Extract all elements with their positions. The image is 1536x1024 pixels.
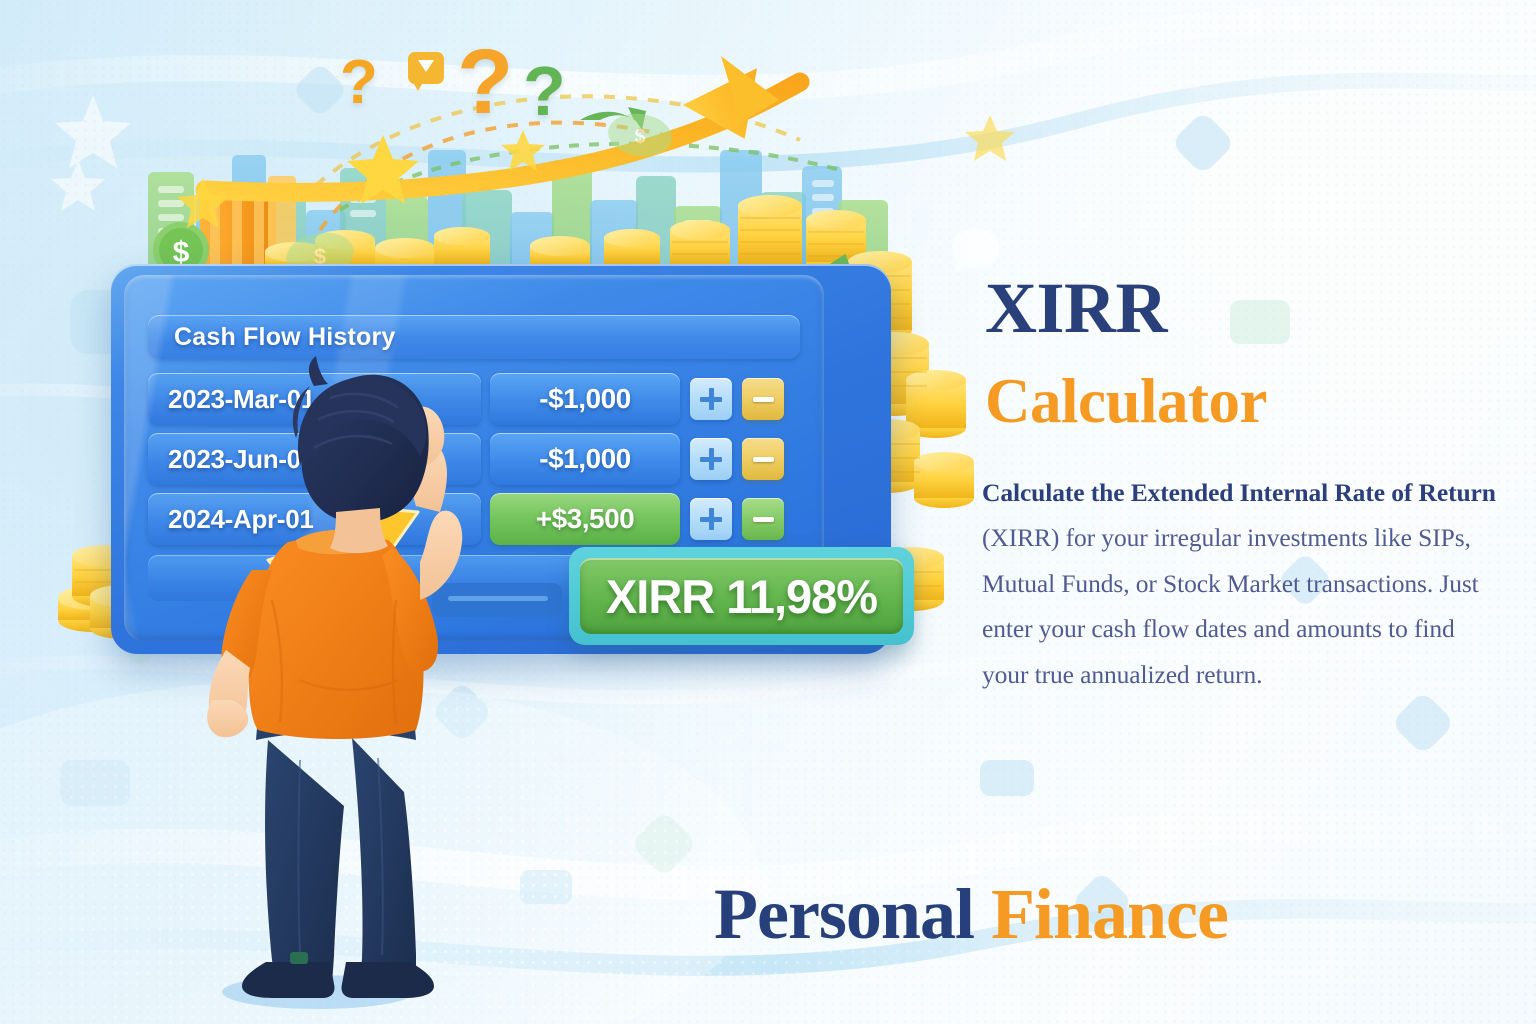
footer-brand-word-2: Finance (991, 874, 1228, 954)
page-title-xirr: XIRR (985, 274, 1167, 343)
hero-banner: $ (0, 0, 1536, 1024)
page-title-calculator: Calculator (985, 370, 1267, 433)
description-rest: (XIRR) for your irregular investments li… (982, 523, 1479, 688)
description-bold-1: Calculate the Extended Internal Rate (982, 478, 1385, 507)
footer-brand-word-1: Personal (714, 874, 974, 954)
description-bold-2: of Return (1391, 478, 1496, 507)
description-paragraph: Calculate the Extended Internal Rate of … (982, 470, 1502, 697)
footer-brand: Personal Finance (714, 878, 1228, 950)
